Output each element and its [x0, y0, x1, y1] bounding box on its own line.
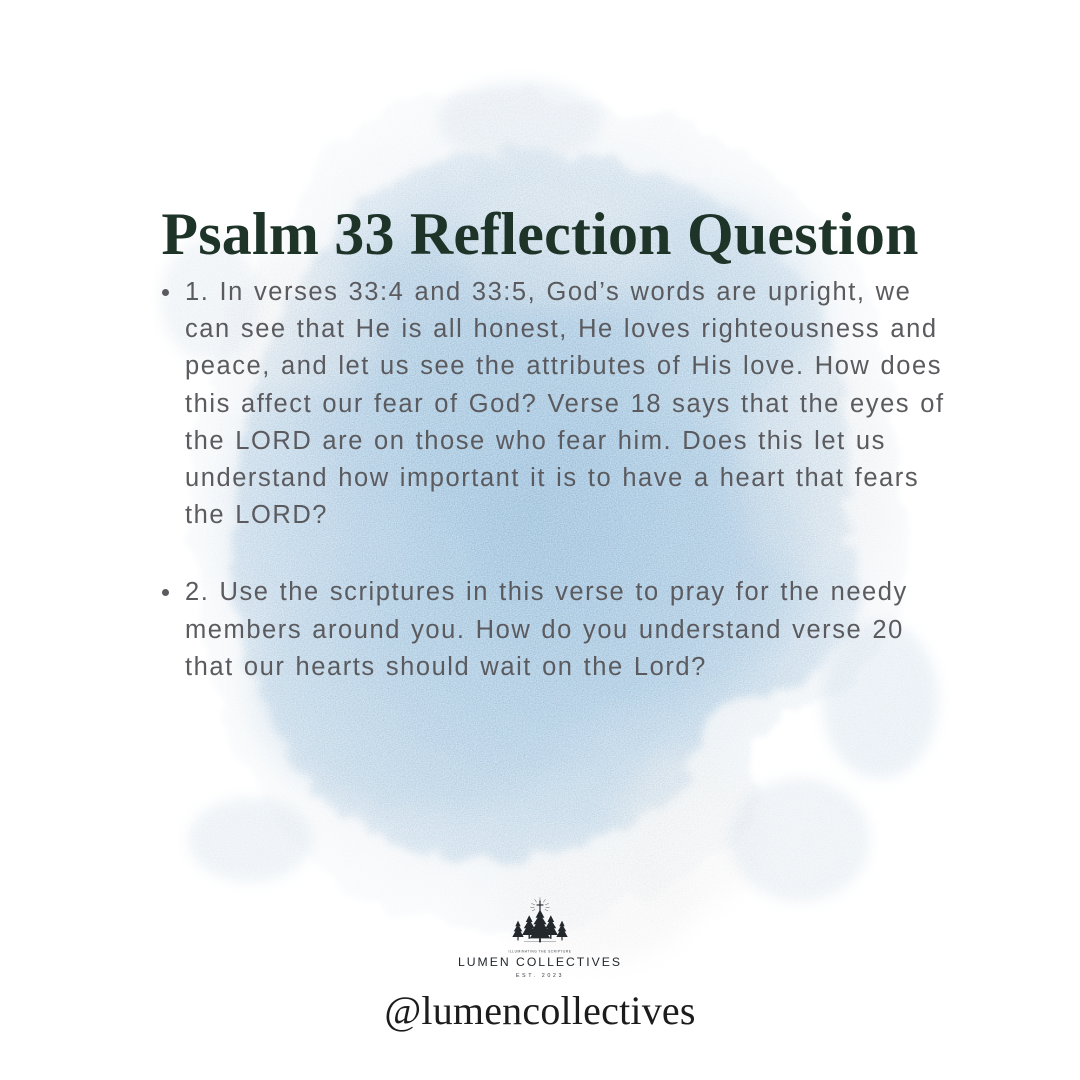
reflection-question-list: 1. In verses 33:4 and 33:5, God’s words … — [158, 274, 958, 686]
bullet-icon — [162, 589, 169, 596]
logo-established: EST. 2023 — [452, 973, 628, 979]
poster-content: Psalm 33 Reflection Question 1. In verse… — [0, 0, 1080, 1080]
brand-logo: ILLUMINATING THE SCRIPTURE LUMEN COLLECT… — [452, 896, 628, 979]
logo-wordmark: LUMEN COLLECTIVES — [452, 955, 628, 969]
bullet-icon — [162, 289, 169, 296]
reflection-question-1: 1. In verses 33:4 and 33:5, God’s words … — [158, 274, 958, 534]
question-text: 1. In verses 33:4 and 33:5, God’s words … — [185, 278, 945, 529]
poster-canvas: Psalm 33 Reflection Question 1. In verse… — [0, 0, 1080, 1080]
social-handle: @lumencollectives — [0, 987, 1080, 1034]
page-title: Psalm 33 Reflection Question — [0, 203, 1080, 266]
question-text: 2. Use the scriptures in this verse to p… — [185, 578, 908, 680]
reflection-question-2: 2. Use the scriptures in this verse to p… — [158, 574, 958, 686]
logo-tagline: ILLUMINATING THE SCRIPTURE — [452, 949, 628, 954]
pine-trees-with-cross-icon — [494, 896, 586, 948]
